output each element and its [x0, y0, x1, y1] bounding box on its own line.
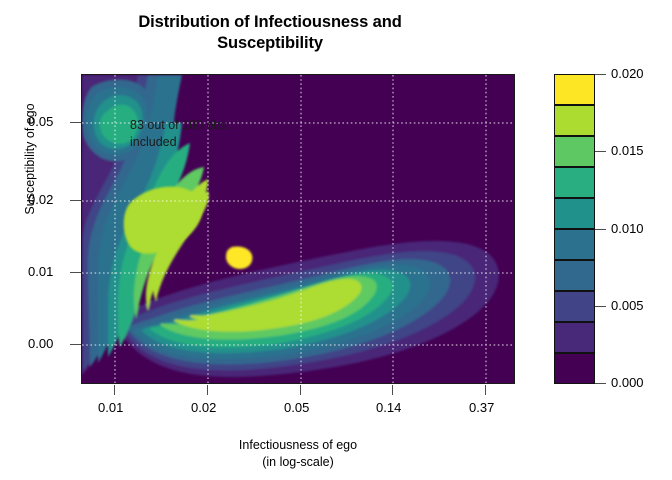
x-axis-title-line-1: Infectiousness of ego [81, 437, 515, 454]
x-tick-label-4: 0.37 [469, 400, 494, 415]
x-tick-mark-3 [392, 385, 393, 395]
legend-color-band-6 [554, 260, 595, 291]
legend-tick-mark-4 [595, 383, 606, 384]
y-tick-mark-0 [70, 122, 81, 123]
legend-color-band-9 [554, 353, 595, 384]
legend-tick-label-3: 0.005 [611, 298, 644, 313]
y-axis-title: Susceptibility of ego [23, 103, 37, 214]
legend-color-band-2 [554, 136, 595, 167]
x-axis-title: Infectiousness of ego (in log-scale) [81, 437, 515, 471]
y-tick-mark-2 [70, 272, 81, 273]
legend-tick-label-2: 0.010 [611, 221, 644, 236]
legend-color-band-4 [554, 198, 595, 229]
x-tick-mark-1 [207, 385, 208, 395]
title-line-2: Susceptibility [0, 33, 540, 54]
x-tick-label-3: 0.14 [376, 400, 401, 415]
y-tick-label-2: 0.01 [28, 264, 53, 279]
legend-tick-mark-3 [595, 306, 606, 307]
legend-color-band-1 [554, 105, 595, 136]
legend-color-band-8 [554, 322, 595, 353]
y-axis-title-wrapper: Susceptibility of ego [21, 59, 39, 259]
x-tick-label-0: 0.01 [98, 400, 123, 415]
y-tick-mark-1 [70, 200, 81, 201]
legend-tick-label-1: 0.015 [611, 143, 644, 158]
page-title: Distribution of Infectiousness and Susce… [0, 12, 540, 54]
title-line-1: Distribution of Infectiousness and [0, 12, 540, 33]
x-tick-label-1: 0.02 [191, 400, 216, 415]
legend-tick-mark-0 [595, 74, 606, 75]
contour-plot-panel: 83 out of 100 obs. included [81, 74, 515, 384]
y-tick-label-3: 0.00 [28, 336, 53, 351]
legend-color-band-5 [554, 229, 595, 260]
color-scale-legend [554, 74, 595, 384]
x-tick-mark-2 [300, 385, 301, 395]
x-tick-mark-4 [485, 385, 486, 395]
x-tick-label-2: 0.05 [284, 400, 309, 415]
x-tick-mark-0 [114, 385, 115, 395]
legend-color-band-0 [554, 74, 595, 105]
x-axis-title-line-2: (in log-scale) [81, 454, 515, 471]
contour-density-surface [82, 75, 515, 384]
legend-tick-mark-2 [595, 229, 606, 230]
legend-tick-mark-1 [595, 151, 606, 152]
y-tick-mark-3 [70, 344, 81, 345]
legend-color-band-7 [554, 291, 595, 322]
legend-color-band-3 [554, 167, 595, 198]
legend-tick-label-0: 0.020 [611, 66, 644, 81]
legend-tick-label-4: 0.000 [611, 375, 644, 390]
chart-root: Distribution of Infectiousness and Susce… [0, 0, 672, 480]
